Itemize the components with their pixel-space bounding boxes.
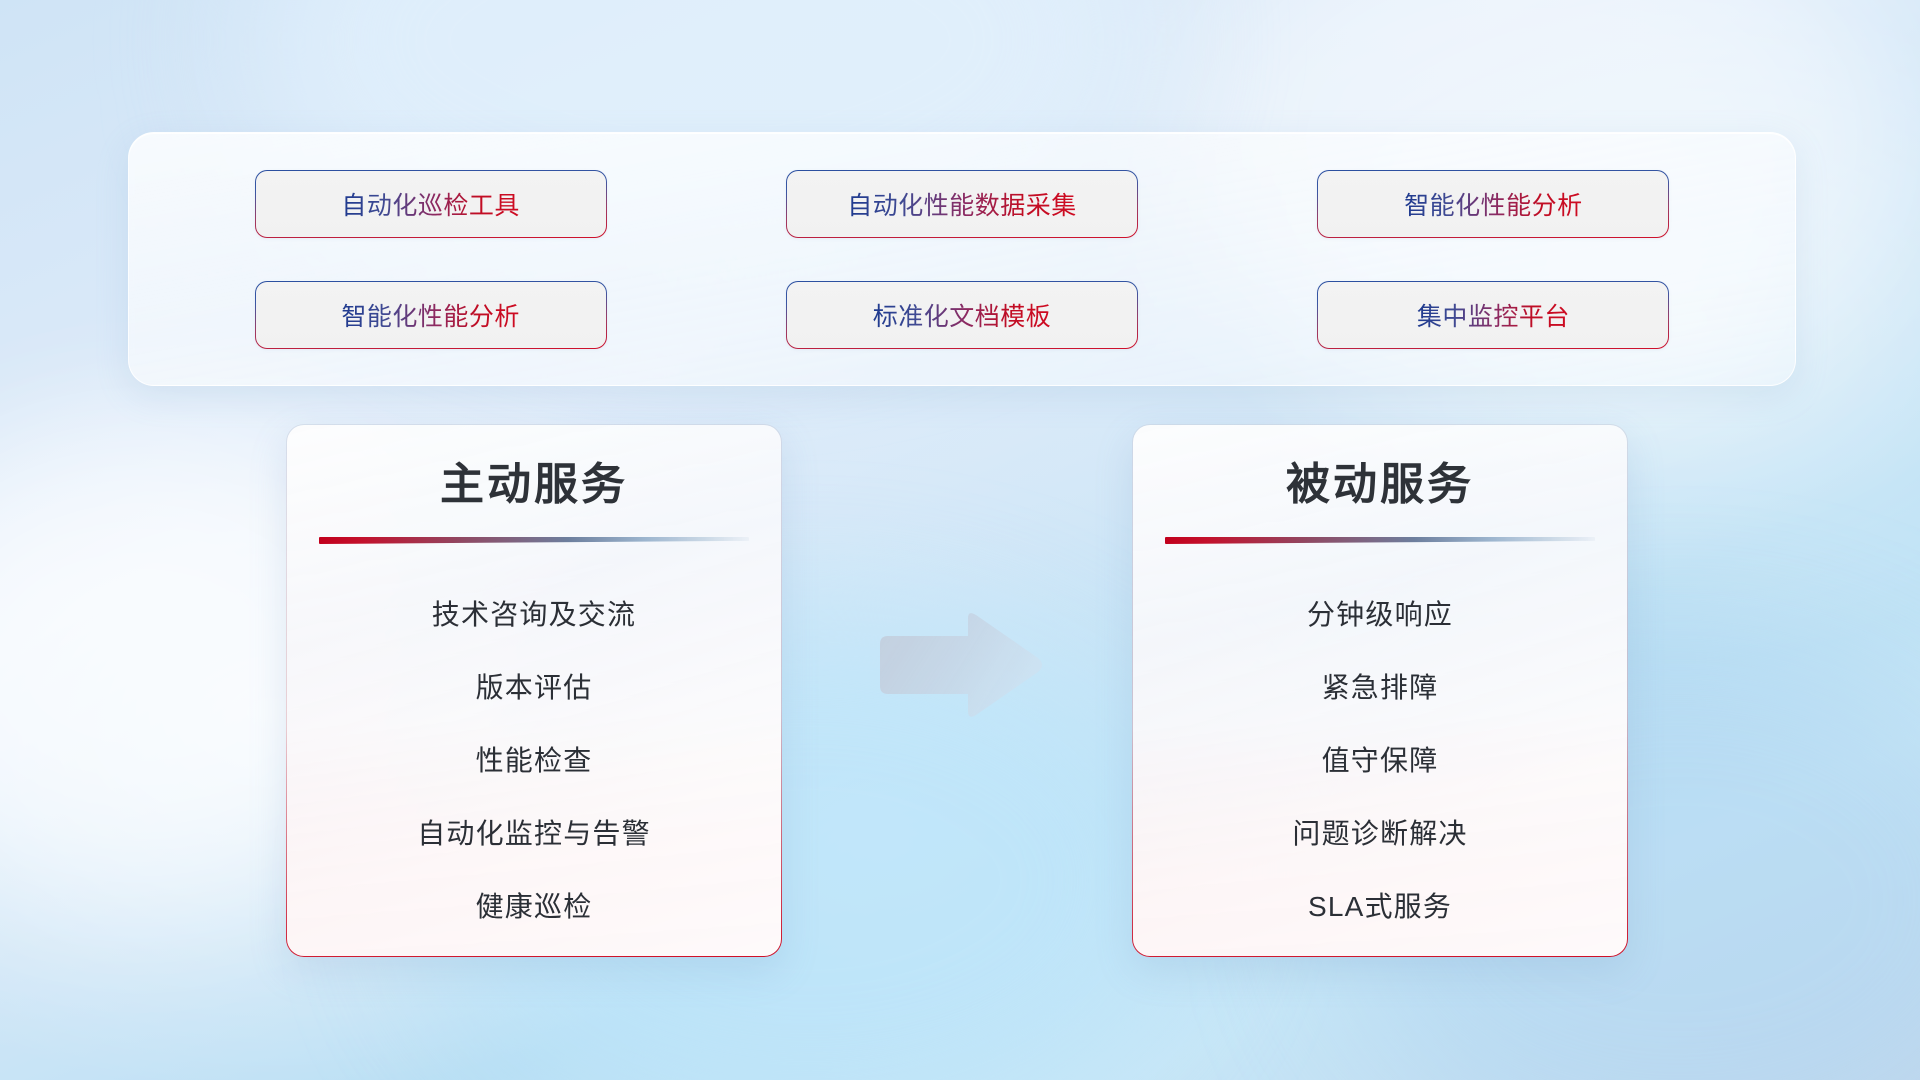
list-item: SLA式服务: [1308, 870, 1452, 943]
list-item: 自动化监控与告警: [417, 797, 651, 870]
capability-pill-label: 自动化巡检工具: [341, 186, 520, 222]
list-item: 问题诊断解决: [1292, 797, 1467, 870]
capability-pill-label: 标准化文档模板: [873, 297, 1052, 333]
list-item: 分钟级响应: [1307, 578, 1453, 651]
capability-pill-automated-performance-data-collection[interactable]: 自动化性能数据采集: [786, 170, 1138, 238]
capability-panel: 自动化巡检工具 自动化性能数据采集 智能化性能分析 智能化性能分析 标准化文档模…: [128, 132, 1796, 386]
list-item: 性能检查: [476, 724, 593, 797]
service-card-title: 被动服务: [1133, 463, 1627, 507]
capability-pill-centralized-monitoring-platform[interactable]: 集中监控平台: [1317, 281, 1669, 349]
list-item: 技术咨询及交流: [432, 578, 636, 651]
service-card-passive[interactable]: 被动服务 分钟级响应 紧急排障 值守保障 问题诊断解决 SLA式服务: [1132, 424, 1628, 957]
capability-pill-automated-inspection-tool[interactable]: 自动化巡检工具: [255, 170, 607, 238]
list-item: 值守保障: [1322, 724, 1439, 797]
capability-pill-grid: 自动化巡检工具 自动化性能数据采集 智能化性能分析 智能化性能分析 标准化文档模…: [129, 133, 1795, 385]
service-card-title: 主动服务: [287, 463, 781, 507]
capability-pill-label: 智能化性能分析: [341, 297, 520, 333]
capability-pill-label: 自动化性能数据采集: [847, 186, 1077, 222]
capability-pill-intelligent-performance-analysis-top[interactable]: 智能化性能分析: [1317, 170, 1669, 238]
service-item-list: 技术咨询及交流 版本评估 性能检查 自动化监控与告警 健康巡检: [287, 578, 781, 943]
diagram-canvas: 自动化巡检工具 自动化性能数据采集 智能化性能分析 智能化性能分析 标准化文档模…: [0, 0, 1920, 1080]
title-divider-rule: [319, 537, 749, 544]
title-divider-rule: [1165, 537, 1595, 544]
service-item-list: 分钟级响应 紧急排障 值守保障 问题诊断解决 SLA式服务: [1133, 578, 1627, 943]
service-card-active[interactable]: 主动服务 技术咨询及交流 版本评估 性能检查 自动化监控与告警 健康巡检: [286, 424, 782, 957]
list-item: 紧急排障: [1322, 651, 1439, 724]
capability-pill-label: 集中监控平台: [1417, 297, 1570, 333]
capability-pill-standardized-document-template[interactable]: 标准化文档模板: [786, 281, 1138, 349]
list-item: 健康巡检: [476, 870, 593, 943]
capability-pill-label: 智能化性能分析: [1404, 186, 1583, 222]
list-item: 版本评估: [476, 651, 593, 724]
arrow-right-icon: [872, 610, 1048, 722]
capability-pill-intelligent-performance-analysis-bottom[interactable]: 智能化性能分析: [255, 281, 607, 349]
